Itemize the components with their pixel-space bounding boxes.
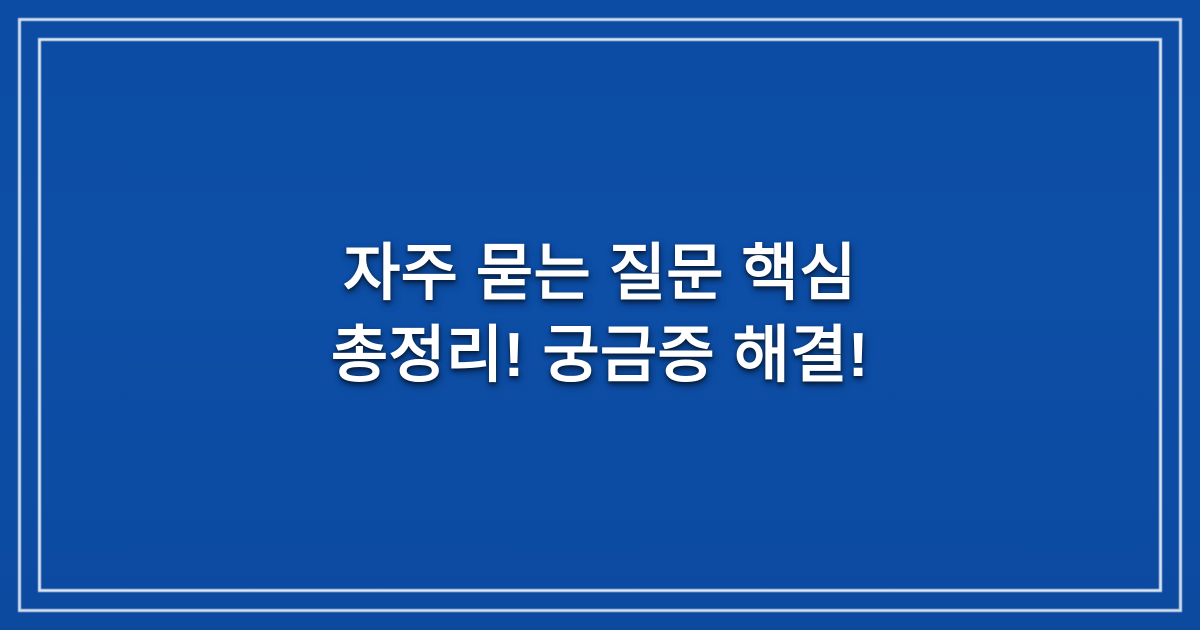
title-block: 자주 묻는 질문 핵심 총정리! 궁금증 해결!: [0, 0, 1200, 630]
page-title-line-1: 자주 묻는 질문 핵심: [331, 233, 869, 315]
page-title-line-2: 총정리! 궁금증 해결!: [331, 315, 869, 397]
thumbnail-canvas: 자주 묻는 질문 핵심 총정리! 궁금증 해결!: [0, 0, 1200, 630]
page-title: 자주 묻는 질문 핵심 총정리! 궁금증 해결!: [331, 233, 869, 397]
